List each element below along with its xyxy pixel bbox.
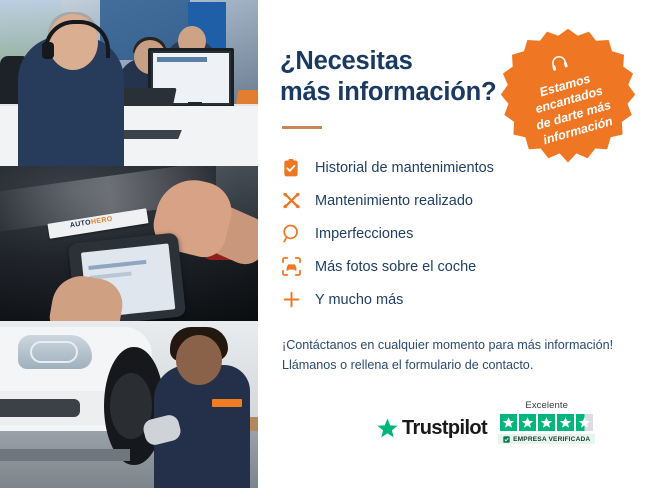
star-4: [557, 414, 574, 431]
ruler-measuring-car-photo: AUTOHERO: [0, 166, 258, 321]
title-divider: [282, 126, 322, 129]
contact-note: ¡Contáctanos en cualquier momento para m…: [282, 336, 624, 375]
trustpilot-block: Trustpilot Excelente EMPRESA VERIFICADA: [376, 400, 595, 444]
trustpilot-logo: Trustpilot: [376, 417, 487, 444]
car-lift-arm: [0, 449, 130, 461]
feature-label: Más fotos sobre el coche: [315, 259, 476, 275]
mechanic-inspecting-wheel-photo: [0, 321, 258, 488]
headset-earcup: [42, 42, 54, 59]
tools-cross-icon: [280, 190, 302, 212]
star-1: [500, 414, 517, 431]
rating-label: Excelente: [525, 400, 568, 411]
list-item: Más fotos sobre el coche: [280, 250, 624, 283]
star-3: [538, 414, 555, 431]
photo-column: AUTOHERO: [0, 0, 258, 488]
feature-label: Mantenimiento realizado: [315, 193, 473, 209]
list-item: Mantenimiento realizado: [280, 184, 624, 217]
plus-icon: [280, 289, 302, 311]
verified-check-icon: [503, 436, 510, 443]
contact-note-line-2: Llámanos o rellena el formulario de cont…: [282, 358, 533, 372]
car-frame-icon: [280, 256, 302, 278]
feature-label: Historial de mantenimientos: [315, 160, 494, 176]
call-center-agents-photo: [0, 0, 258, 166]
trustpilot-star-icon: [376, 417, 399, 440]
title-line-1: ¿Necesitas: [280, 47, 413, 75]
list-item: Y mucho más: [280, 283, 624, 316]
info-card: AUTOHERO: [0, 0, 650, 488]
feature-list: Historial de mantenimientos M: [280, 151, 624, 316]
trustpilot-wordmark: Trustpilot: [402, 417, 487, 440]
magnifier-icon: [280, 223, 302, 245]
clipboard-check-icon: [280, 157, 302, 179]
contact-note-line-1: ¡Contáctanos en cualquier momento para m…: [282, 338, 613, 352]
trustpilot-rating: Excelente EMPRESA VERIFICADA: [498, 400, 595, 444]
headset-icon: [547, 51, 572, 79]
verified-badge: EMPRESA VERIFICADA: [498, 434, 595, 444]
star-2: [519, 414, 536, 431]
mechanic-logo: [212, 399, 242, 407]
title-line-2: más información?: [280, 78, 496, 106]
star-rating: [500, 414, 593, 431]
verified-label: EMPRESA VERIFICADA: [513, 436, 590, 443]
car-grille: [0, 399, 80, 417]
feature-label: Y mucho más: [315, 292, 403, 308]
status-badge: Estamos encantados de darte más informac…: [498, 26, 638, 166]
list-item: Imperfecciones: [280, 217, 624, 250]
star-5-half: [576, 414, 593, 431]
headlight-ring: [30, 341, 78, 363]
feature-label: Imperfecciones: [315, 226, 413, 242]
mechanic-head: [176, 335, 222, 385]
